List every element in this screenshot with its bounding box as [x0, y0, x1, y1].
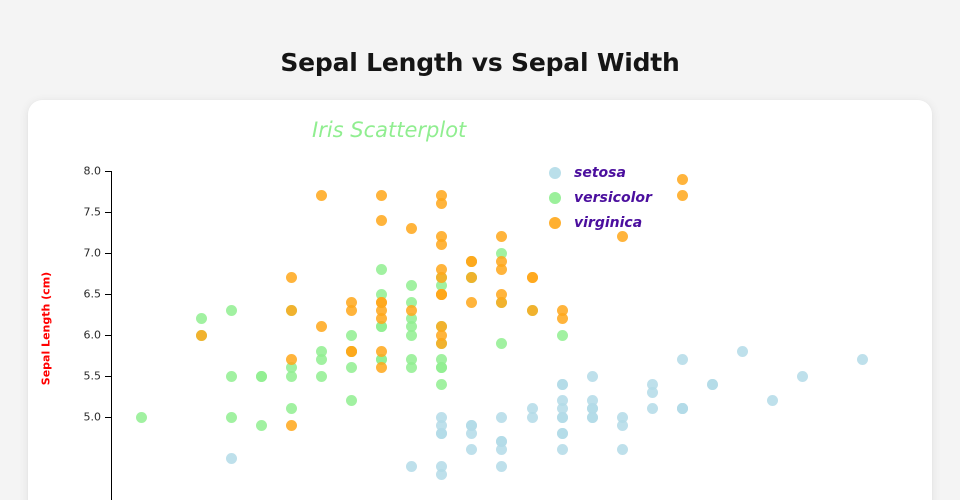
scatter-plot: 8.07.57.06.56.05.55.0 Sepal Length (cm) … [28, 100, 932, 500]
data-point-versicolor [376, 264, 387, 275]
data-point-virginica [286, 272, 297, 283]
legend-label: setosa [574, 165, 626, 181]
data-point-setosa [677, 354, 688, 365]
data-point-setosa [647, 387, 658, 398]
y-tick-mark [105, 376, 112, 377]
data-point-virginica [496, 297, 507, 308]
y-tick-label: 5.5 [57, 370, 101, 383]
data-point-setosa [587, 371, 598, 382]
data-point-setosa [496, 444, 507, 455]
data-point-versicolor [406, 330, 417, 341]
y-tick-mark [105, 335, 112, 336]
data-point-setosa [466, 444, 477, 455]
data-point-setosa [466, 420, 477, 431]
y-tick-label: 7.5 [57, 206, 101, 219]
data-point-virginica [527, 305, 538, 316]
data-point-setosa [587, 412, 598, 423]
data-point-versicolor [286, 403, 297, 414]
y-tick-label: 7.0 [57, 247, 101, 260]
data-point-versicolor [346, 330, 357, 341]
data-point-versicolor [226, 371, 237, 382]
data-point-virginica [346, 305, 357, 316]
data-point-setosa [857, 354, 868, 365]
y-tick-mark [105, 171, 112, 172]
legend-item-versicolor[interactable]: versicolor [549, 185, 652, 210]
data-point-setosa [797, 371, 808, 382]
data-point-virginica [376, 362, 387, 373]
data-point-virginica [677, 174, 688, 185]
data-point-virginica [286, 305, 297, 316]
data-point-virginica [436, 338, 447, 349]
data-point-setosa [527, 412, 538, 423]
data-point-setosa [406, 461, 417, 472]
data-point-versicolor [256, 371, 267, 382]
data-point-setosa [767, 395, 778, 406]
data-point-setosa [587, 395, 598, 406]
data-point-setosa [617, 444, 628, 455]
data-point-virginica [466, 272, 477, 283]
y-tick-label: 8.0 [57, 165, 101, 178]
data-point-virginica [316, 190, 327, 201]
data-point-virginica [196, 330, 207, 341]
data-point-virginica [466, 256, 477, 267]
data-point-versicolor [346, 395, 357, 406]
data-point-setosa [557, 444, 568, 455]
data-point-setosa [617, 420, 628, 431]
legend-swatch-icon [549, 192, 561, 204]
legend-item-virginica[interactable]: virginica [549, 210, 652, 235]
data-point-setosa [557, 403, 568, 414]
data-point-setosa [496, 461, 507, 472]
data-point-virginica [436, 289, 447, 300]
data-point-versicolor [226, 305, 237, 316]
data-point-setosa [226, 453, 237, 464]
chart-card: Iris Scatterplot 8.07.57.06.56.05.55.0 S… [28, 100, 932, 500]
data-point-setosa [677, 403, 688, 414]
data-point-virginica [286, 420, 297, 431]
data-point-virginica [557, 313, 568, 324]
y-tick-mark [105, 253, 112, 254]
y-tick-label: 5.0 [57, 411, 101, 424]
data-point-setosa [496, 412, 507, 423]
data-point-versicolor [496, 338, 507, 349]
y-tick-mark [105, 212, 112, 213]
data-point-versicolor [256, 420, 267, 431]
data-point-virginica [316, 321, 327, 332]
data-point-versicolor [406, 280, 417, 291]
y-axis-title: Sepal Length (cm) [40, 259, 53, 399]
data-point-versicolor [286, 371, 297, 382]
data-point-versicolor [436, 379, 447, 390]
data-point-virginica [406, 223, 417, 234]
y-tick-mark [105, 294, 112, 295]
chart-legend: setosaversicolorvirginica [549, 160, 652, 235]
data-point-setosa [737, 346, 748, 357]
data-point-setosa [436, 412, 447, 423]
legend-swatch-icon [549, 167, 561, 179]
data-point-setosa [557, 428, 568, 439]
y-tick-mark [105, 417, 112, 418]
data-point-virginica [527, 272, 538, 283]
legend-swatch-icon [549, 217, 561, 229]
page-title: Sepal Length vs Sepal Width [0, 48, 960, 77]
data-point-versicolor [557, 330, 568, 341]
y-tick-label: 6.0 [57, 329, 101, 342]
data-point-virginica [466, 297, 477, 308]
data-point-virginica [496, 264, 507, 275]
data-point-versicolor [136, 412, 147, 423]
y-tick-label: 6.5 [57, 288, 101, 301]
data-point-virginica [496, 231, 507, 242]
data-point-setosa [436, 428, 447, 439]
data-point-setosa [647, 403, 658, 414]
data-point-virginica [376, 190, 387, 201]
data-point-versicolor [346, 362, 357, 373]
data-point-virginica [376, 215, 387, 226]
data-point-versicolor [226, 412, 237, 423]
data-point-setosa [707, 379, 718, 390]
legend-label: virginica [574, 215, 642, 231]
data-point-virginica [677, 190, 688, 201]
data-point-versicolor [196, 313, 207, 324]
legend-label: versicolor [574, 190, 652, 206]
data-point-setosa [557, 379, 568, 390]
legend-item-setosa[interactable]: setosa [549, 160, 652, 185]
page-root: Sepal Length vs Sepal Width Iris Scatter… [0, 0, 960, 500]
data-point-versicolor [316, 371, 327, 382]
data-point-virginica [346, 346, 357, 357]
